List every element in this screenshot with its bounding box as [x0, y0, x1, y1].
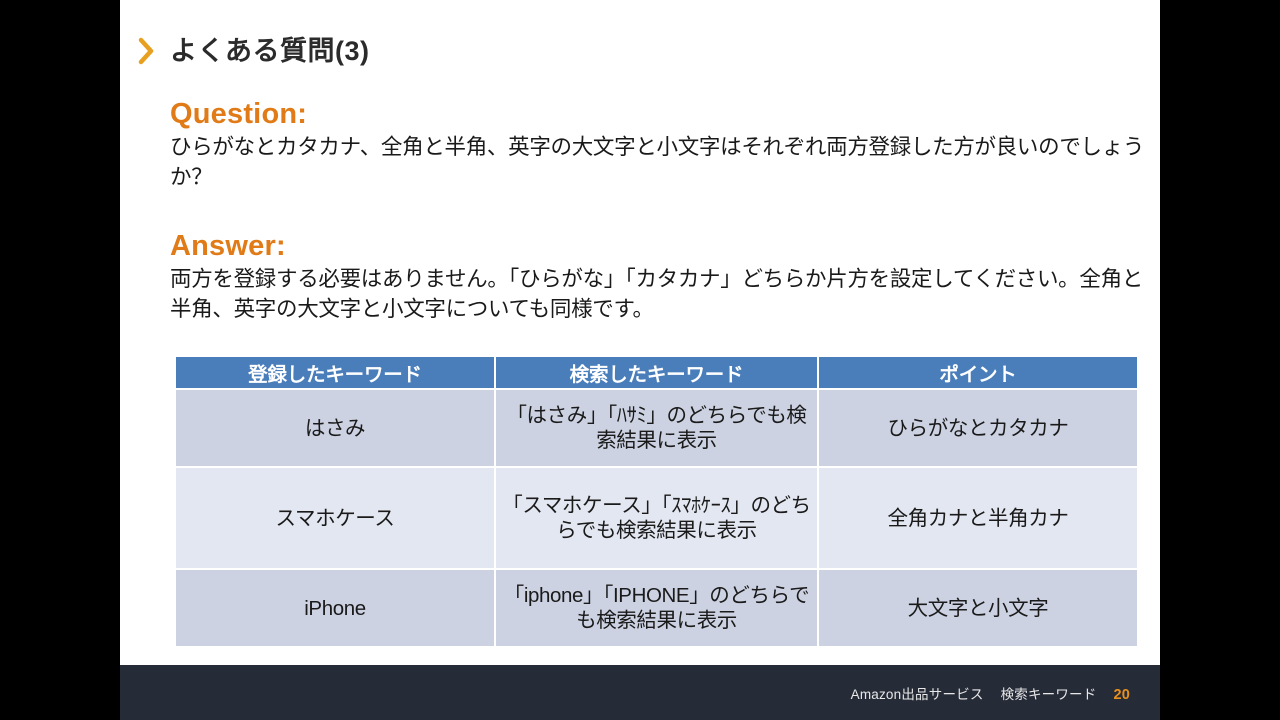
answer-body: 両方を登録する必要はありません。「ひらがな」「カタカナ」どちらか片方を設定してく…	[170, 265, 1150, 323]
slide-footer: Amazon出品サービス 検索キーワード 20	[120, 665, 1160, 720]
cell-searched-keyword: 「iphone」「IPHONE」のどちらでも検索結果に表示	[496, 570, 817, 646]
answer-block: Answer: 両方を登録する必要はありません。「ひらがな」「カタカナ」どちらか…	[170, 230, 1150, 324]
table-row: スマホケース 「スマホケース」「ｽﾏﾎｹｰｽ」のどちらでも検索結果に表示 全角カ…	[176, 468, 1137, 568]
cell-registered-keyword: はさみ	[176, 390, 494, 466]
cell-registered-keyword: iPhone	[176, 570, 494, 646]
table-row: iPhone 「iphone」「IPHONE」のどちらでも検索結果に表示 大文字…	[176, 570, 1137, 646]
answer-label: Answer:	[170, 230, 1150, 263]
column-header-searched-keyword: 検索したキーワード	[496, 357, 817, 388]
cell-point: ひらがなとカタカナ	[819, 390, 1137, 466]
table-header-row: 登録したキーワード 検索したキーワード ポイント	[176, 357, 1137, 388]
cell-point: 全角カナと半角カナ	[819, 468, 1137, 568]
slide-stage: よくある質問(3) Question: ひらがなとカタカナ、全角と半角、英字の大…	[0, 0, 1280, 720]
column-header-registered-keyword: 登録したキーワード	[176, 357, 494, 388]
presentation-slide: よくある質問(3) Question: ひらがなとカタカナ、全角と半角、英字の大…	[120, 0, 1160, 720]
keyword-comparison-table: 登録したキーワード 検索したキーワード ポイント はさみ 「はさみ」「ﾊｻﾐ」の…	[174, 355, 1139, 648]
cell-searched-keyword: 「はさみ」「ﾊｻﾐ」のどちらでも検索結果に表示	[496, 390, 817, 466]
letterbox-right	[1160, 0, 1280, 720]
letterbox-left	[0, 0, 120, 720]
cell-point: 大文字と小文字	[819, 570, 1137, 646]
question-label: Question:	[170, 98, 1150, 131]
footer-text-group: Amazon出品サービス 検索キーワード 20	[851, 683, 1130, 703]
page-title: よくある質問(3)	[170, 38, 370, 65]
chevron-right-icon	[138, 36, 156, 66]
question-block: Question: ひらがなとカタカナ、全角と半角、英字の大文字と小文字はそれぞ…	[170, 98, 1150, 192]
column-header-point: ポイント	[819, 357, 1137, 388]
cell-searched-keyword: 「スマホケース」「ｽﾏﾎｹｰｽ」のどちらでも検索結果に表示	[496, 468, 817, 568]
slide-header: よくある質問(3)	[138, 36, 370, 66]
table-row: はさみ 「はさみ」「ﾊｻﾐ」のどちらでも検索結果に表示 ひらがなとカタカナ	[176, 390, 1137, 466]
footer-section: 検索キーワード	[1001, 683, 1097, 703]
footer-page-number: 20	[1113, 687, 1130, 703]
question-body: ひらがなとカタカナ、全角と半角、英字の大文字と小文字はそれぞれ両方登録した方が良…	[170, 133, 1150, 191]
cell-registered-keyword: スマホケース	[176, 468, 494, 568]
footer-brand: Amazon出品サービス	[851, 683, 984, 703]
